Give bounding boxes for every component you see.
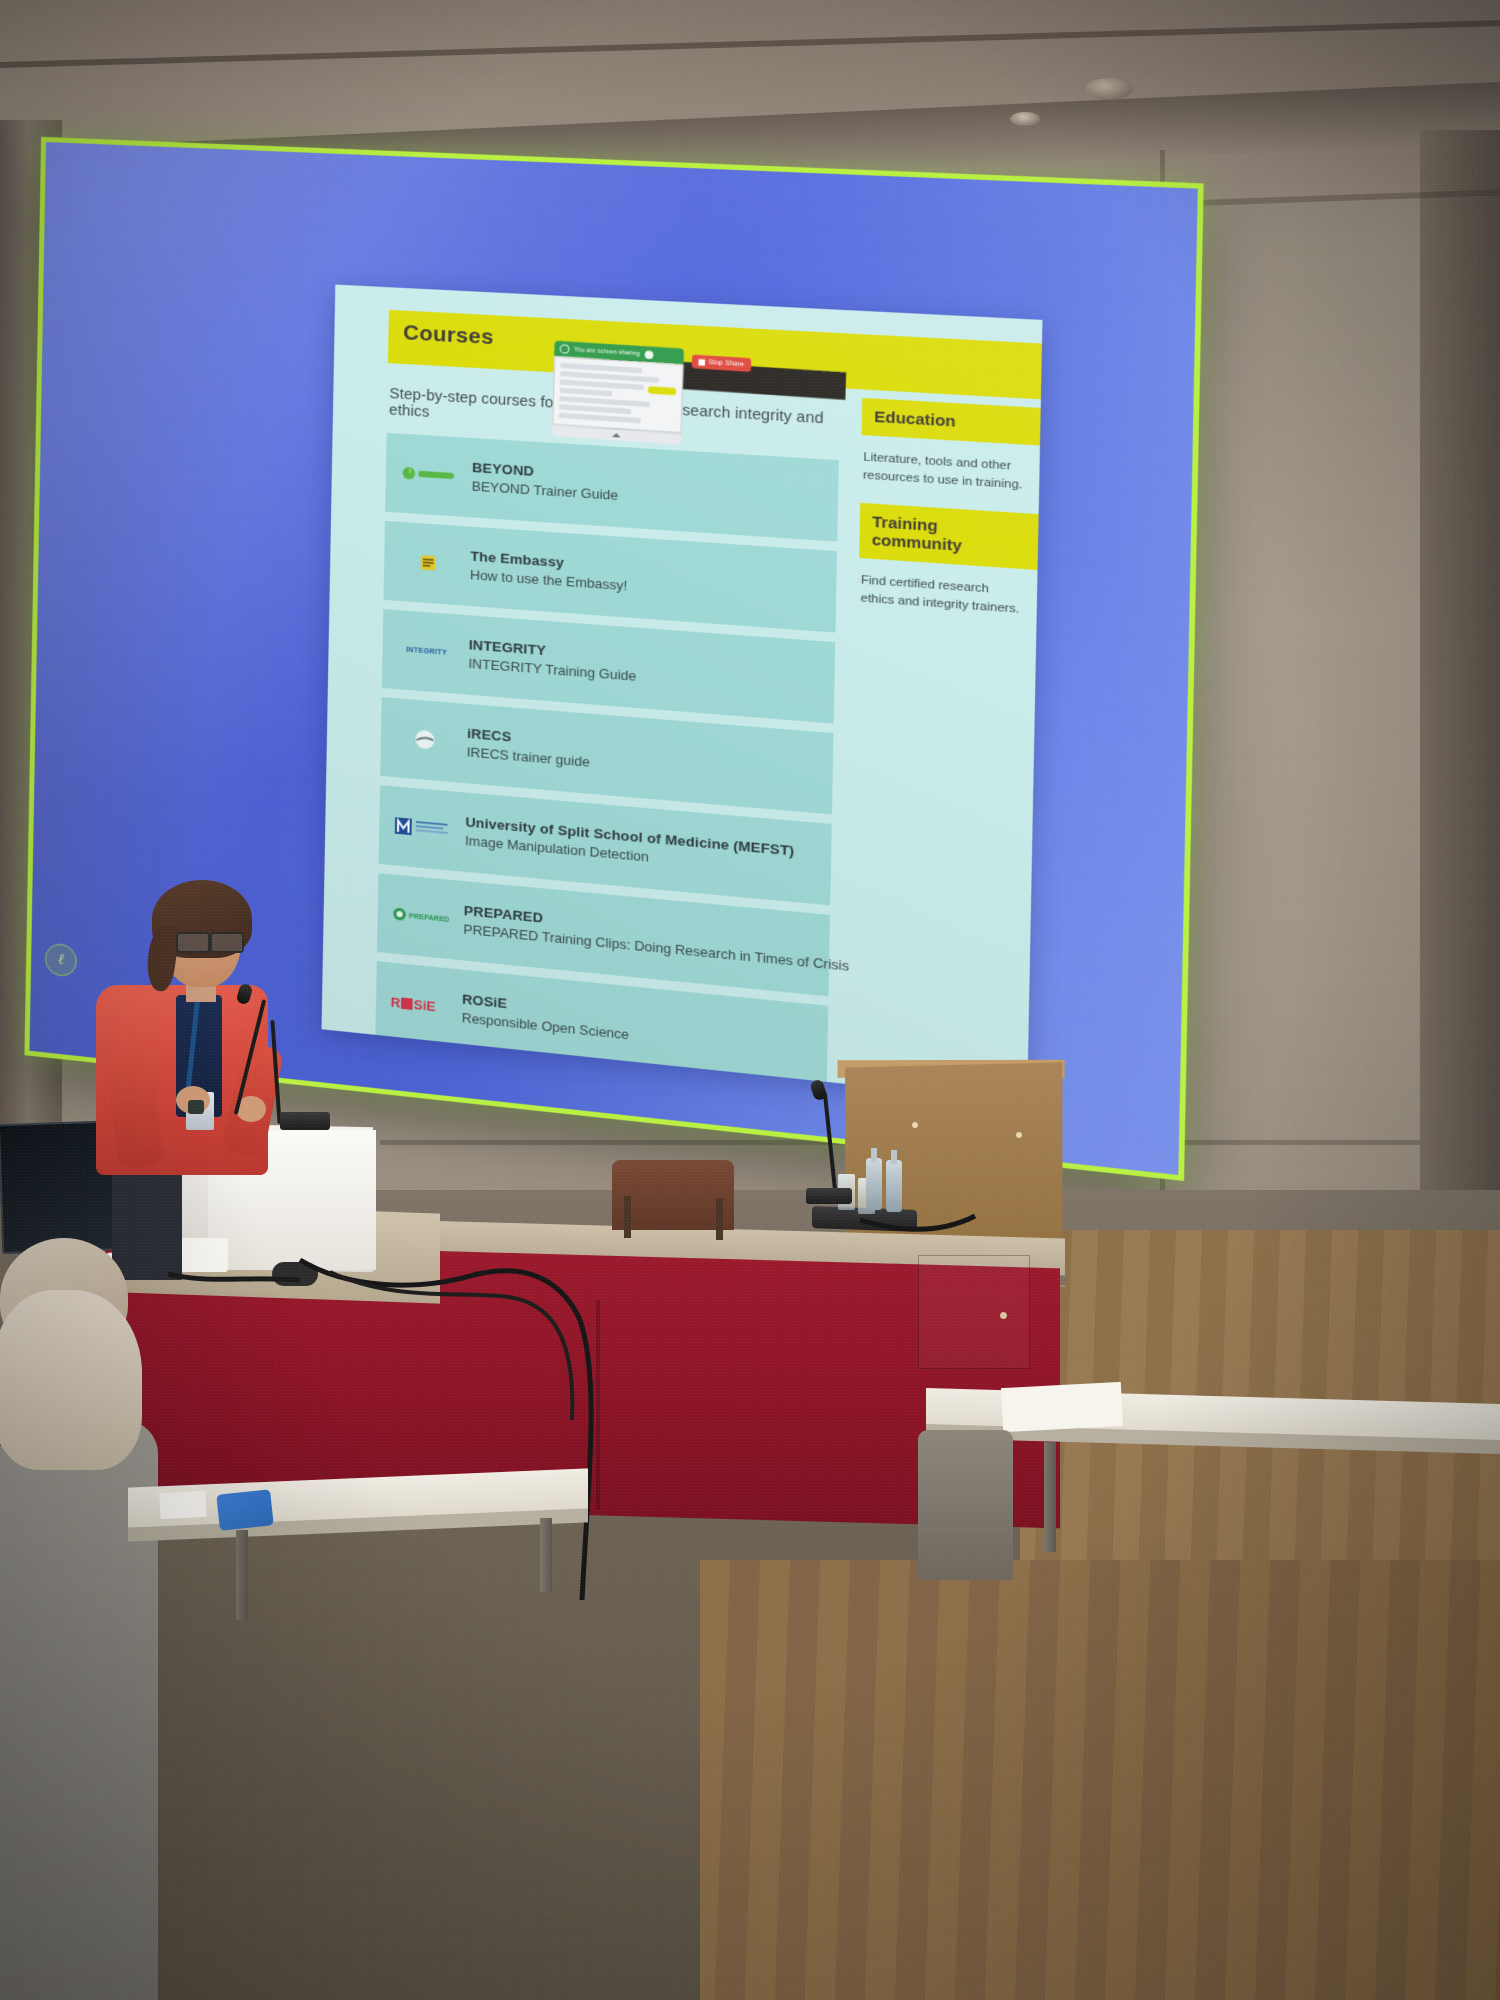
lectern-knob — [912, 1122, 918, 1128]
right-pillar — [1420, 130, 1500, 1190]
audience-chair — [918, 1430, 1013, 1580]
lectern-knob — [1016, 1132, 1022, 1138]
desk-leg — [236, 1530, 248, 1620]
desk-paper — [159, 1491, 206, 1519]
eyeglasses-right-lens-icon — [210, 932, 244, 953]
ceiling-vent-icon — [1085, 78, 1133, 100]
desk-leg — [540, 1518, 552, 1592]
bottle-neck — [871, 1148, 877, 1162]
audience-member-hair — [0, 1290, 142, 1470]
microphone-base — [280, 1112, 330, 1130]
smartphone[interactable] — [216, 1489, 273, 1530]
handout-papers — [1001, 1382, 1123, 1432]
ceiling-speaker-icon — [1010, 112, 1040, 126]
photo-scene: Courses Step-by-step courses for learnin… — [0, 0, 1500, 2000]
ceiling-edge — [0, 20, 1500, 68]
bottle-neck — [891, 1150, 897, 1164]
presentation-clicker[interactable] — [188, 1100, 204, 1114]
desk-leg — [1044, 1442, 1056, 1552]
eyeglasses-left-lens-icon — [176, 932, 210, 953]
handout-label — [1060, 1390, 1062, 1397]
